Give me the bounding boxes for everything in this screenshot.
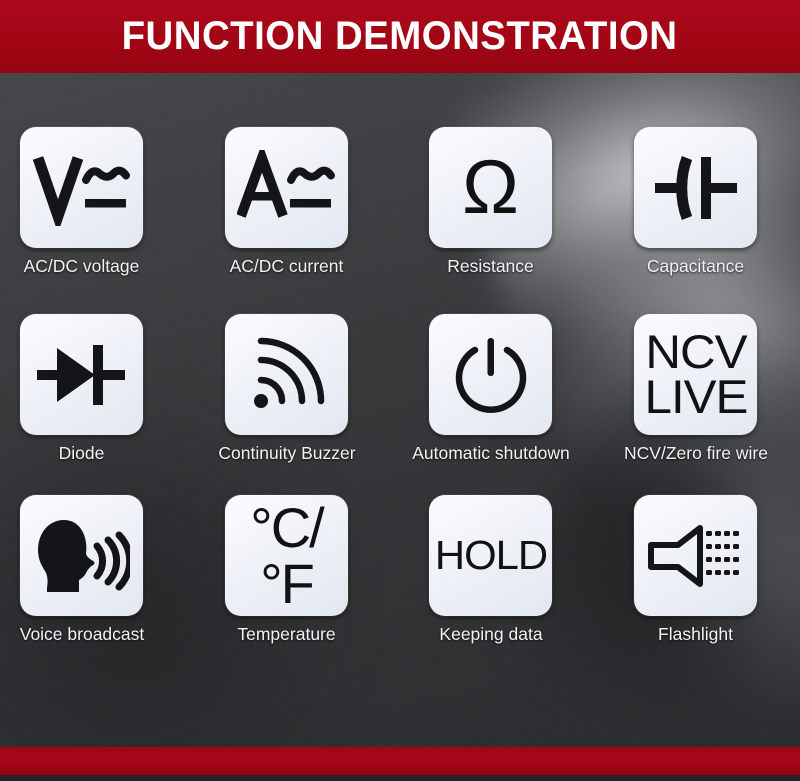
function-grid: AC/DC voltage AC/DC current Ω Resi	[0, 73, 800, 747]
power-off-icon	[453, 336, 529, 414]
temperature-tile[interactable]: °C/°F	[225, 495, 348, 616]
function-item-ac-dc-current[interactable]: AC/DC current	[225, 127, 348, 277]
ncv-live-tile[interactable]: NCV LIVE	[634, 314, 757, 435]
capacitance-tile[interactable]	[634, 127, 757, 248]
continuity-buzzer-tile[interactable]	[225, 314, 348, 435]
function-item-automatic-shutdown[interactable]: Automatic shutdown	[429, 314, 591, 464]
resistance-ohm-icon: Ω	[462, 150, 519, 226]
ac-dc-voltage-icon	[32, 150, 132, 226]
page-title: FUNCTION DEMONSTRATION	[122, 14, 678, 59]
flashlight-tile[interactable]	[634, 495, 757, 616]
function-label: Capacitance	[634, 256, 757, 277]
ac-dc-voltage-tile[interactable]	[20, 127, 143, 248]
ncv-live-icon: NCV LIVE	[644, 330, 747, 419]
function-item-ncv[interactable]: NCV LIVE NCV/Zero fire wire	[634, 314, 791, 464]
voice-broadcast-icon	[34, 516, 130, 596]
feature-panel: AC/DC voltage AC/DC current Ω Resi	[0, 73, 800, 747]
function-item-capacitance[interactable]: Capacitance	[634, 127, 757, 277]
function-label: Flashlight	[634, 624, 757, 645]
flashlight-icon	[648, 525, 744, 587]
function-label: Automatic shutdown	[391, 443, 591, 464]
function-label: Voice broadcast	[0, 624, 172, 645]
function-item-diode[interactable]: Diode	[20, 314, 143, 464]
hold-tile[interactable]: HOLD	[429, 495, 552, 616]
capacitor-icon	[653, 152, 739, 224]
function-label: Diode	[20, 443, 143, 464]
function-label: Keeping data	[401, 624, 581, 645]
automatic-shutdown-tile[interactable]	[429, 314, 552, 435]
function-item-ac-dc-voltage[interactable]: AC/DC voltage	[20, 127, 143, 277]
voice-broadcast-tile[interactable]	[20, 495, 143, 616]
function-label: Temperature	[225, 624, 348, 645]
ac-dc-current-icon	[237, 150, 337, 226]
function-label: Resistance	[429, 256, 552, 277]
page-header: FUNCTION DEMONSTRATION	[0, 0, 800, 73]
function-label: NCV/Zero fire wire	[601, 443, 791, 464]
temperature-icon: °C/°F	[225, 500, 348, 612]
function-item-resistance[interactable]: Ω Resistance	[429, 127, 552, 277]
continuity-buzzer-icon	[248, 336, 326, 414]
function-label: Continuity Buzzer	[197, 443, 377, 464]
footer-dark-strip	[0, 775, 800, 781]
function-item-continuity-buzzer[interactable]: Continuity Buzzer	[225, 314, 377, 464]
function-demonstration-page: FUNCTION DEMONSTRATION AC/DC voltage	[0, 0, 800, 781]
diode-icon	[37, 340, 127, 410]
diode-tile[interactable]	[20, 314, 143, 435]
ac-dc-current-tile[interactable]	[225, 127, 348, 248]
function-label: AC/DC current	[225, 256, 348, 277]
function-item-voice-broadcast[interactable]: Voice broadcast	[20, 495, 172, 645]
function-item-keeping-data[interactable]: HOLD Keeping data	[429, 495, 581, 645]
function-label: AC/DC voltage	[20, 256, 143, 277]
resistance-tile[interactable]: Ω	[429, 127, 552, 248]
function-item-flashlight[interactable]: Flashlight	[634, 495, 757, 645]
footer-red-band	[0, 747, 800, 775]
function-item-temperature[interactable]: °C/°F Temperature	[225, 495, 348, 645]
hold-icon: HOLD	[434, 535, 546, 576]
